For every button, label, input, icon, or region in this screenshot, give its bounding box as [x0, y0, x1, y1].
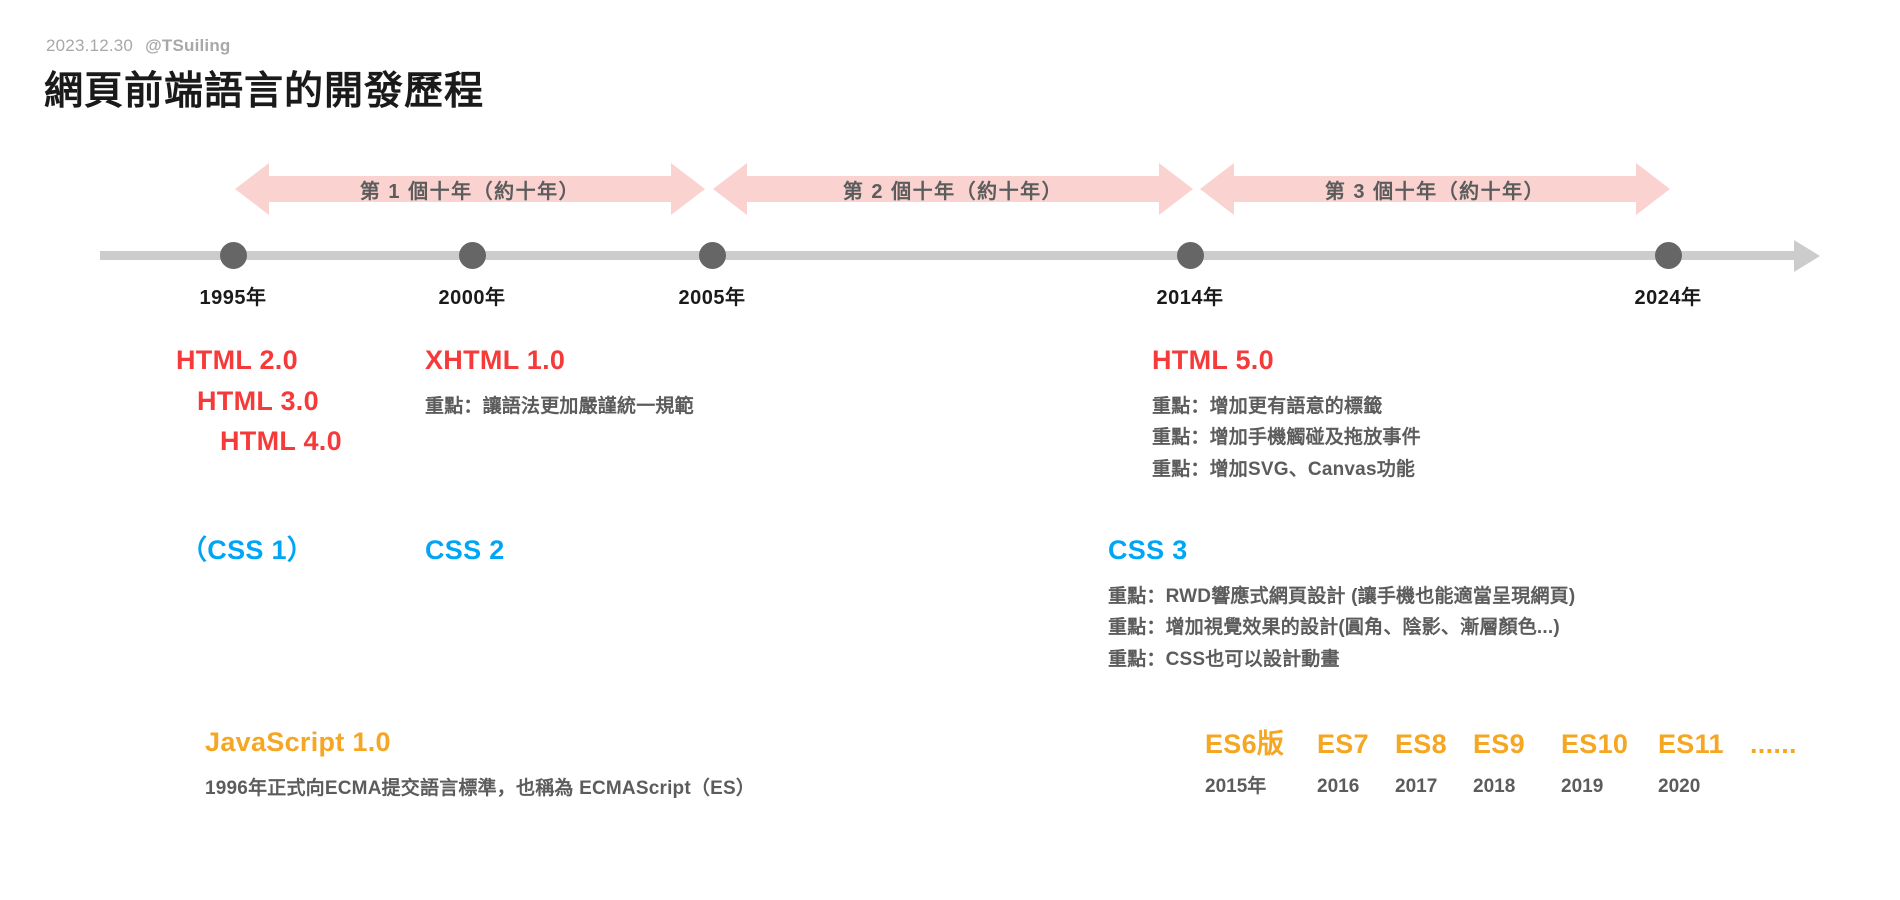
es-group: ES6版 ES7 ES8 ES9 ES10 ES11 ...... 2015年 …	[1205, 722, 1797, 798]
decade-band-3: 第 3 個十年（約十年）	[1200, 163, 1670, 215]
timeline-arrowhead-icon	[1794, 240, 1820, 272]
javascript-group: JavaScript 1.0 1996年正式向ECMA提交語言標準，也稱為 EC…	[205, 722, 755, 804]
year-label-2000: 2000年	[439, 281, 506, 310]
es-version-es11: ES11	[1658, 729, 1750, 760]
timeline-dot-2024	[1655, 242, 1682, 269]
byline: 2023.12.30@TSuiling	[46, 36, 231, 56]
es-year-2018: 2018	[1473, 776, 1561, 798]
es-year-2020: 2020	[1658, 776, 1750, 798]
css3-note-2: 重點：增加視覺效果的設計(圓角、陰影、漸層顏色...)	[1108, 612, 1575, 644]
es-year-row: 2015年 2016 2017 2018 2019 2020	[1205, 771, 1797, 798]
es-version-es7: ES7	[1317, 729, 1395, 760]
year-label-2024: 2024年	[1635, 281, 1702, 310]
xhtml-group: XHTML 1.0 重點：讓語法更加嚴謹統一規範	[425, 340, 694, 422]
timeline-dot-2000	[459, 242, 486, 269]
xhtml-title: XHTML 1.0	[425, 340, 694, 381]
timeline-dot-2014	[1177, 242, 1204, 269]
html-3-label: HTML 3.0	[197, 381, 342, 422]
es-year-2015: 2015年	[1205, 771, 1317, 798]
es-version-es6: ES6版	[1205, 722, 1317, 761]
byline-handle: @TSuiling	[145, 36, 230, 55]
css1-title: （CSS 1）	[180, 530, 314, 571]
es-version-more: ......	[1750, 729, 1797, 760]
html5-note-1: 重點：增加更有語意的標籤	[1152, 391, 1421, 423]
html-2-label: HTML 2.0	[176, 340, 342, 381]
xhtml-note-1: 重點：讓語法更加嚴謹統一規範	[425, 391, 694, 423]
css2-group: CSS 2	[425, 530, 505, 571]
decade-label-2: 第 2 個十年（約十年）	[843, 175, 1063, 204]
decade-label-3: 第 3 個十年（約十年）	[1325, 175, 1545, 204]
css3-group: CSS 3 重點：RWD響應式網頁設計 (讓手機也能適當呈現網頁) 重點：增加視…	[1108, 530, 1575, 676]
es-year-2019: 2019	[1561, 776, 1658, 798]
timeline-axis	[100, 251, 1800, 260]
css3-note-3: 重點：CSS也可以設計動畫	[1108, 644, 1575, 676]
javascript-title: JavaScript 1.0	[205, 722, 755, 763]
html-4-label: HTML 4.0	[220, 421, 342, 462]
es-year-2017: 2017	[1395, 776, 1473, 798]
page-title: 網頁前端語言的開發歷程	[44, 60, 484, 116]
css1-group: （CSS 1）	[180, 530, 314, 571]
year-label-1995: 1995年	[200, 281, 267, 310]
es-version-es9: ES9	[1473, 729, 1561, 760]
year-label-2014: 2014年	[1157, 281, 1224, 310]
timeline-dot-1995	[220, 242, 247, 269]
html5-title: HTML 5.0	[1152, 340, 1421, 381]
html5-group: HTML 5.0 重點：增加更有語意的標籤 重點：增加手機觸碰及拖放事件 重點：…	[1152, 340, 1421, 486]
html5-note-2: 重點：增加手機觸碰及拖放事件	[1152, 422, 1421, 454]
es-year-2016: 2016	[1317, 776, 1395, 798]
year-label-2005: 2005年	[679, 281, 746, 310]
es-version-es8: ES8	[1395, 729, 1473, 760]
es-version-es10: ES10	[1561, 729, 1658, 760]
css2-title: CSS 2	[425, 530, 505, 571]
decade-label-1: 第 1 個十年（約十年）	[360, 175, 580, 204]
byline-date: 2023.12.30	[46, 36, 133, 55]
html-early-versions: HTML 2.0 HTML 3.0 HTML 4.0	[176, 340, 342, 462]
timeline-dot-2005	[699, 242, 726, 269]
decade-band-1: 第 1 個十年（約十年）	[235, 163, 705, 215]
decade-band-2: 第 2 個十年（約十年）	[713, 163, 1193, 215]
javascript-note: 1996年正式向ECMA提交語言標準，也稱為 ECMAScript（ES）	[205, 773, 755, 805]
html5-note-3: 重點：增加SVG、Canvas功能	[1152, 454, 1421, 486]
css3-note-1: 重點：RWD響應式網頁設計 (讓手機也能適當呈現網頁)	[1108, 581, 1575, 613]
css3-title: CSS 3	[1108, 530, 1575, 571]
es-version-row: ES6版 ES7 ES8 ES9 ES10 ES11 ......	[1205, 722, 1797, 761]
